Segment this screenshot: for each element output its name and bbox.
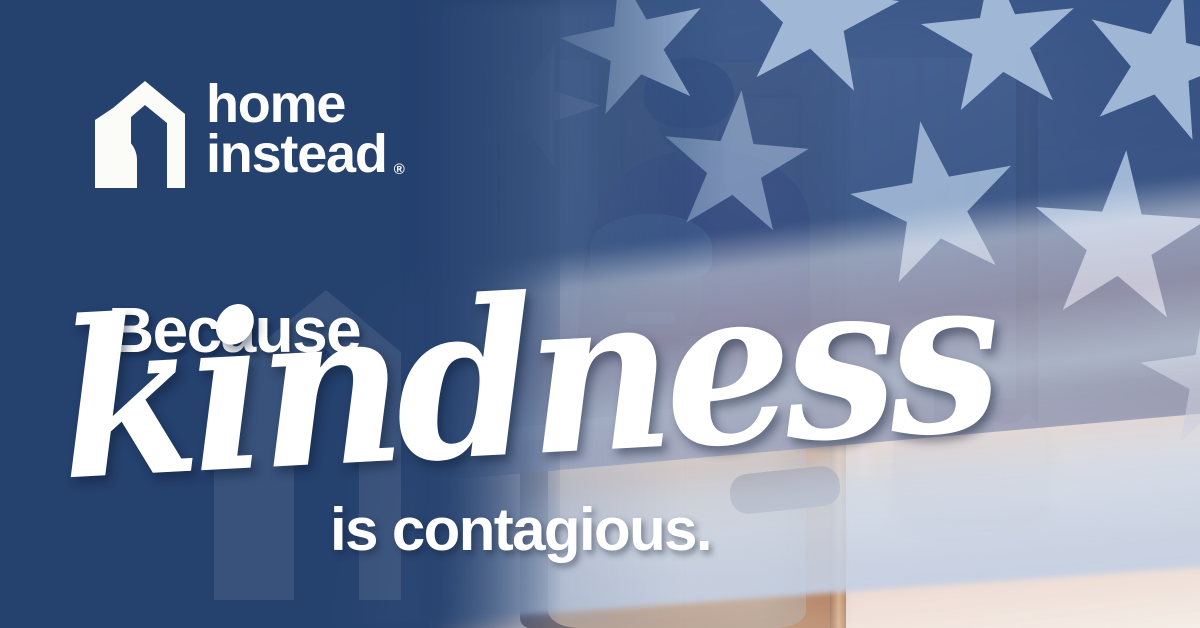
brand-name-line2-wrap: instead ® [206, 130, 387, 180]
social-ad-banner: home instead ® Because kindness is conta… [0, 0, 1200, 628]
brand-name-line2: instead [206, 124, 387, 184]
brand-wordmark: home instead ® [206, 80, 387, 179]
navy-blend [420, 0, 680, 628]
brand-name-line1: home [206, 80, 387, 130]
registered-trademark-icon: ® [394, 163, 404, 177]
house-watermark-icon [196, 228, 411, 600]
house-h-logo-icon [92, 78, 188, 188]
brand-logo[interactable]: home instead ® [92, 78, 387, 188]
